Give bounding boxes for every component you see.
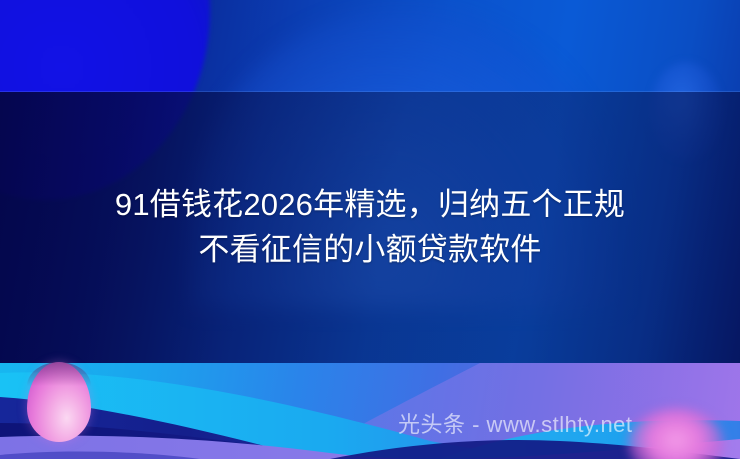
site-watermark: 光头条 - www.stlhty.net: [398, 410, 633, 440]
cover-title: 91借钱花2026年精选，归纳五个正规 不看征信的小额贷款软件: [0, 182, 740, 272]
cover-image: 91借钱花2026年精选，归纳五个正规 不看征信的小额贷款软件 光头条 - ww…: [0, 0, 740, 459]
band-seam-line: [0, 91, 740, 92]
